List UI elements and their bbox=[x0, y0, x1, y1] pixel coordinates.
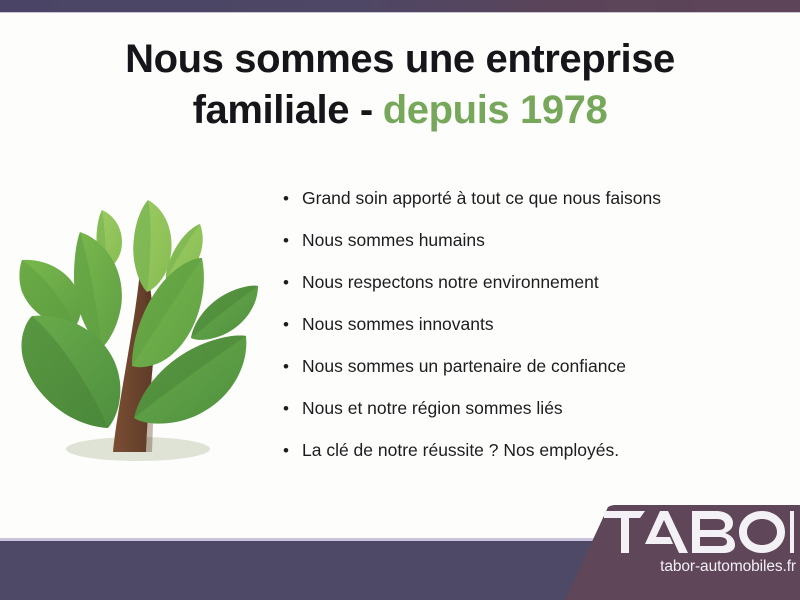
top-accent-bar bbox=[0, 0, 800, 12]
logo-letter-a bbox=[645, 511, 688, 553]
list-item: • Nous sommes humains bbox=[283, 232, 763, 274]
bullet-dot-icon: • bbox=[283, 358, 302, 375]
list-item: • Nous et notre région sommes liés bbox=[283, 400, 763, 442]
tree-leaf-top-center bbox=[133, 200, 171, 292]
logo-letter-b bbox=[692, 511, 735, 553]
bullet-dot-icon: • bbox=[283, 190, 302, 207]
list-item: • Nous respectons notre environnement bbox=[283, 274, 763, 316]
list-item-label: Nous sommes un partenaire de confiance bbox=[302, 358, 626, 376]
top-accent-hairline bbox=[0, 12, 800, 13]
headline-line-1: Nous sommes une entreprise bbox=[40, 34, 760, 85]
logo-wordmark bbox=[604, 511, 794, 553]
list-item: • Grand soin apporté à tout ce que nous … bbox=[283, 190, 763, 232]
logo-tagline: tabor-automobiles.fr bbox=[604, 558, 800, 576]
list-item-label: Nous respectons notre environnement bbox=[302, 274, 599, 292]
bullet-dot-icon: • bbox=[283, 232, 302, 249]
bullet-dot-icon: • bbox=[283, 400, 302, 417]
logo-letter-t bbox=[604, 511, 645, 553]
bullet-dot-icon: • bbox=[283, 274, 302, 291]
list-item: • Nous sommes un partenaire de confiance bbox=[283, 358, 763, 400]
list-item-label: Nous sommes humains bbox=[302, 232, 485, 250]
tree-illustration bbox=[18, 186, 264, 486]
logo-letter-o bbox=[739, 511, 785, 553]
list-item-label: La clé de notre réussite ? Nos employés. bbox=[302, 442, 619, 460]
slide-canvas: Nous sommes une entreprise familiale -de… bbox=[0, 0, 800, 600]
headline-line-2-black: familiale - bbox=[193, 88, 373, 132]
list-item: • Nous sommes innovants bbox=[283, 316, 763, 358]
list-item-label: Grand soin apporté à tout ce que nous fa… bbox=[302, 190, 661, 208]
headline-line-2: familiale -depuis 1978 bbox=[40, 85, 760, 136]
page-title: Nous sommes une entreprise familiale -de… bbox=[40, 34, 760, 136]
bullet-dot-icon: • bbox=[283, 316, 302, 333]
value-proposition-list: • Grand soin apporté à tout ce que nous … bbox=[283, 190, 763, 484]
headline-line-2-green: depuis 1978 bbox=[383, 88, 608, 132]
logo-letter-r bbox=[790, 511, 794, 553]
list-item-label: Nous et notre région sommes liés bbox=[302, 400, 563, 418]
list-item-label: Nous sommes innovants bbox=[302, 316, 494, 334]
bullet-dot-icon: • bbox=[283, 442, 302, 459]
list-item: • La clé de notre réussite ? Nos employé… bbox=[283, 442, 763, 484]
